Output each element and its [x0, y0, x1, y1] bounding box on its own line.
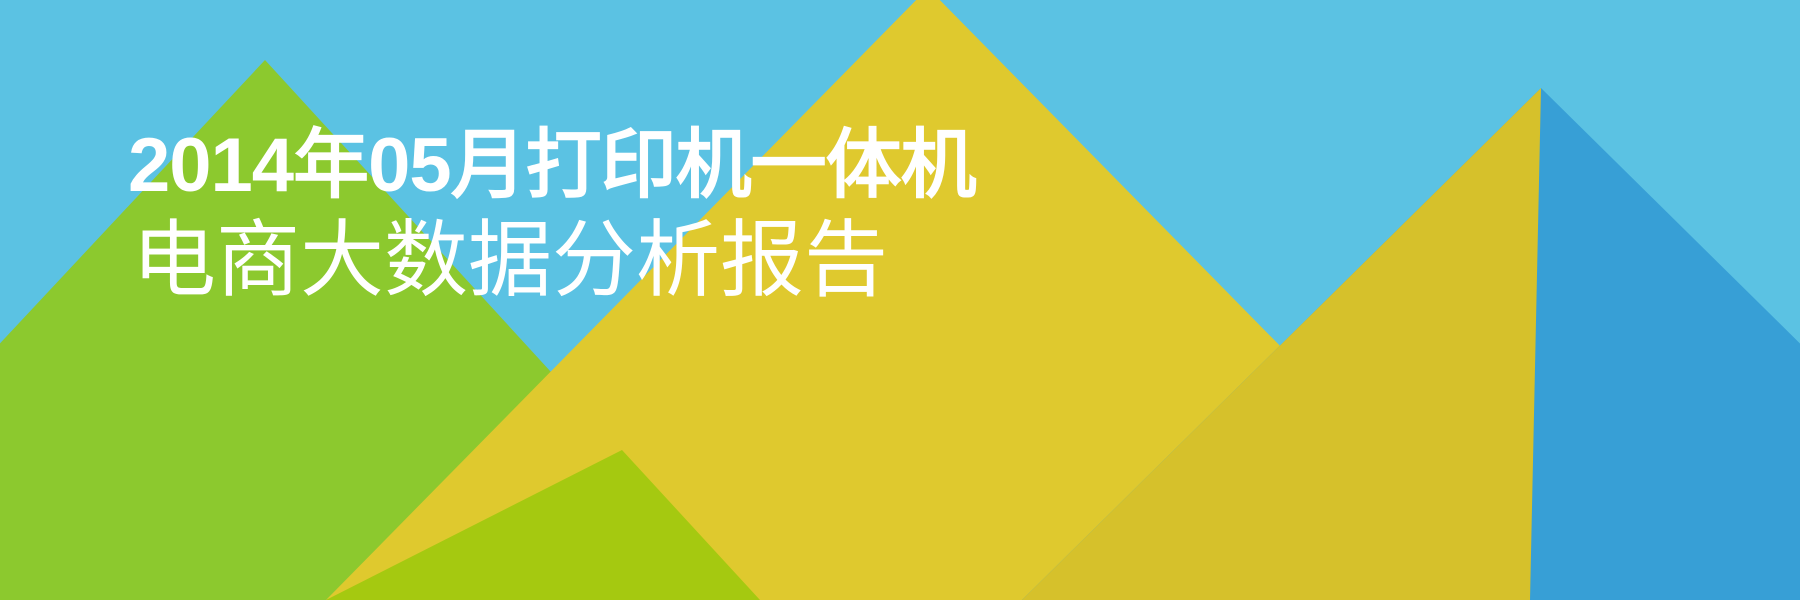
report-cover-banner: 2014年05月打印机一体机 电商大数据分析报告	[0, 0, 1800, 600]
background-geometric-artwork	[0, 0, 1800, 600]
